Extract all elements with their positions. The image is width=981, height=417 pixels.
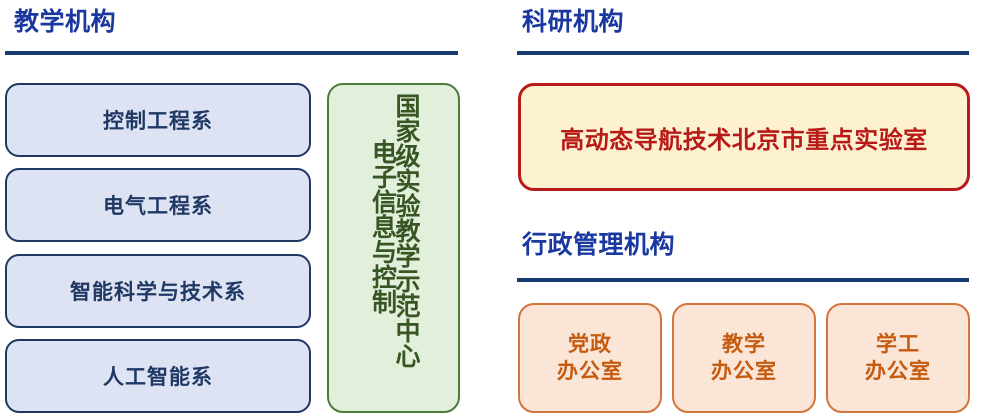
department-box-intelligent-science[interactable]: 智能科学与技术系 <box>5 254 311 328</box>
office-label-line1: 学工 <box>876 331 920 358</box>
key-laboratory-box[interactable]: 高动态导航技术北京市重点实验室 <box>518 83 970 191</box>
office-box-teaching-affairs[interactable]: 教学 办公室 <box>672 303 816 413</box>
office-label-line1: 教学 <box>722 331 766 358</box>
center-label-secondary: 电子信息与控制 <box>369 139 395 314</box>
teaching-section-divider <box>5 51 458 55</box>
admin-section-title: 行政管理机构 <box>522 233 675 258</box>
department-label: 控制工程系 <box>103 105 213 135</box>
organization-chart: 教学机构 控制工程系 电气工程系 智能科学与技术系 人工智能系 国家级实验教学示… <box>0 0 981 417</box>
office-box-student-affairs[interactable]: 学工 办公室 <box>826 303 970 413</box>
research-section-divider <box>517 51 969 55</box>
department-label: 智能科学与技术系 <box>70 276 246 306</box>
department-list: 控制工程系 电气工程系 智能科学与技术系 人工智能系 <box>5 83 311 413</box>
office-label-line1: 党政 <box>568 331 612 358</box>
national-demonstration-center-box[interactable]: 国家级实验教学示范中心 电子信息与控制 <box>327 83 460 413</box>
center-label-primary: 国家级实验教学示范中心 <box>393 93 419 368</box>
research-section-title: 科研机构 <box>522 10 624 35</box>
teaching-section: 教学机构 控制工程系 电气工程系 智能科学与技术系 人工智能系 国家级实验教学示… <box>0 0 480 417</box>
department-label: 人工智能系 <box>103 361 213 391</box>
research-and-admin-section: 科研机构 高动态导航技术北京市重点实验室 行政管理机构 党政 办公室 教学 办公… <box>517 0 981 417</box>
teaching-section-title: 教学机构 <box>14 10 116 35</box>
department-label: 电气工程系 <box>103 190 213 220</box>
office-label-line2: 办公室 <box>711 358 777 385</box>
admin-section-divider <box>517 278 969 282</box>
key-laboratory-label: 高动态导航技术北京市重点实验室 <box>560 120 928 155</box>
office-box-party-affairs[interactable]: 党政 办公室 <box>518 303 662 413</box>
office-label-line2: 办公室 <box>865 358 931 385</box>
department-box-control[interactable]: 控制工程系 <box>5 83 311 157</box>
office-label-line2: 办公室 <box>557 358 623 385</box>
department-box-artificial-intelligence[interactable]: 人工智能系 <box>5 339 311 413</box>
department-box-electrical[interactable]: 电气工程系 <box>5 168 311 242</box>
office-list: 党政 办公室 教学 办公室 学工 办公室 <box>518 303 970 413</box>
